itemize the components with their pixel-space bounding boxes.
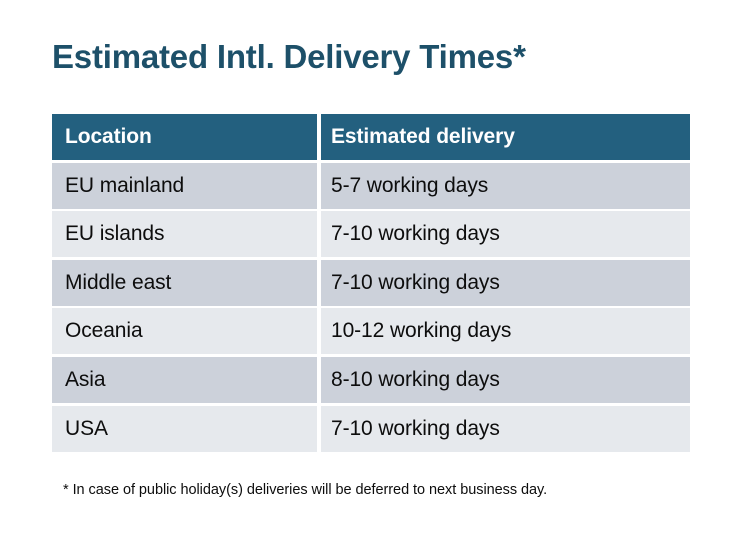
cell-location: Oceania <box>52 308 317 354</box>
column-header-location: Location <box>52 114 317 160</box>
delivery-times-page: Estimated Intl. Delivery Times* Location… <box>0 0 745 536</box>
table-row: Middle east 7-10 working days <box>52 260 690 306</box>
footnote-text: * In case of public holiday(s) deliverie… <box>63 480 547 500</box>
page-title: Estimated Intl. Delivery Times* <box>52 36 526 78</box>
table-row: Asia 8-10 working days <box>52 357 690 403</box>
cell-delivery: 8-10 working days <box>321 357 690 403</box>
cell-delivery: 7-10 working days <box>321 211 690 257</box>
table-row: EU islands 7-10 working days <box>52 211 690 257</box>
cell-location: EU mainland <box>52 163 317 209</box>
cell-delivery: 5-7 working days <box>321 163 690 209</box>
table-row: Oceania 10-12 working days <box>52 308 690 354</box>
delivery-times-table: Location Estimated delivery EU mainland … <box>52 114 690 452</box>
cell-location: Asia <box>52 357 317 403</box>
cell-location: Middle east <box>52 260 317 306</box>
table-header-row: Location Estimated delivery <box>52 114 690 160</box>
cell-delivery: 7-10 working days <box>321 260 690 306</box>
table-row: EU mainland 5-7 working days <box>52 163 690 209</box>
table-row: USA 7-10 working days <box>52 406 690 452</box>
cell-location: USA <box>52 406 317 452</box>
cell-delivery: 7-10 working days <box>321 406 690 452</box>
cell-delivery: 10-12 working days <box>321 308 690 354</box>
cell-location: EU islands <box>52 211 317 257</box>
column-header-estimated-delivery: Estimated delivery <box>321 114 690 160</box>
